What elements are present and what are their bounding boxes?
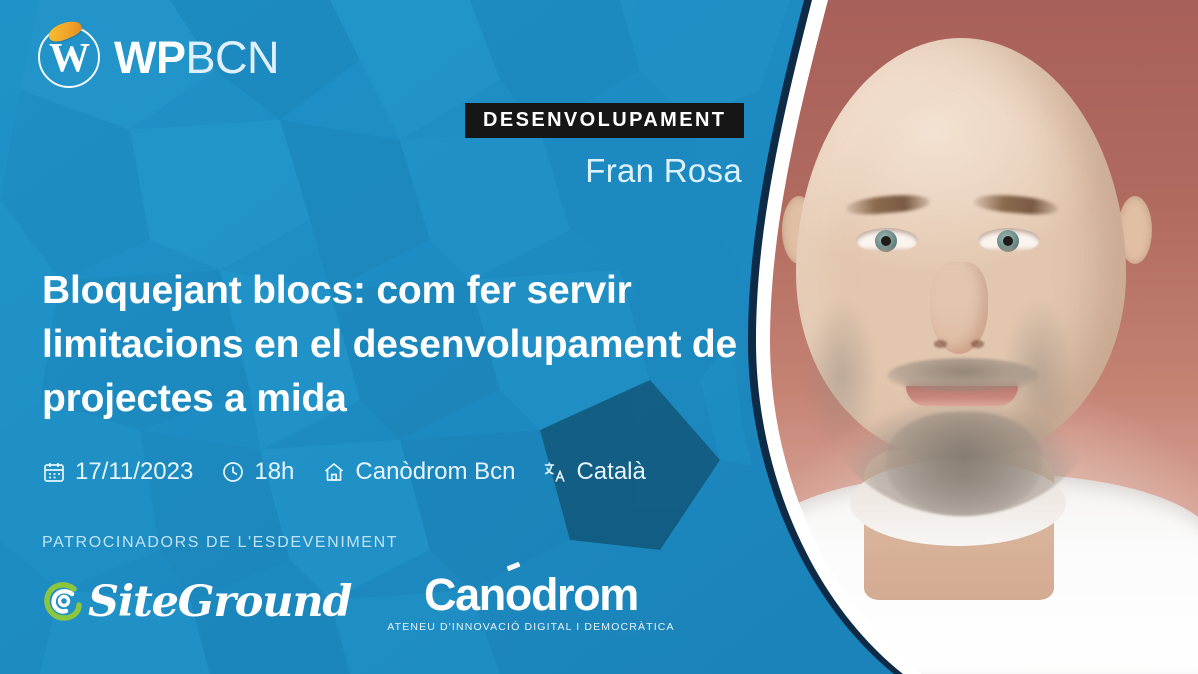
meta-venue: Canòdrom Bcn bbox=[322, 458, 515, 486]
canodrom-wordmark: Canodrom bbox=[424, 572, 638, 617]
meta-time: 18h bbox=[221, 458, 294, 486]
siteground-wordmark: SiteGround bbox=[88, 581, 351, 624]
meta-date-label: 17/11/2023 bbox=[75, 458, 193, 486]
meta-language: Català bbox=[543, 458, 645, 486]
wordpress-barretina-icon: W bbox=[38, 26, 100, 88]
translate-icon bbox=[543, 460, 567, 484]
track-badge-label: DESENVOLUPAMENT bbox=[483, 109, 726, 132]
meta-time-label: 18h bbox=[254, 458, 294, 486]
meta-language-label: Català bbox=[576, 458, 645, 486]
home-icon bbox=[322, 460, 346, 484]
wpbcn-wordmark: WPBCN bbox=[114, 35, 279, 80]
canodrom-o-accent: o bbox=[505, 572, 531, 617]
wpbcn-light: BCN bbox=[186, 32, 280, 83]
meta-date: 17/11/2023 bbox=[42, 458, 193, 486]
wpbcn-bold: WP bbox=[114, 32, 186, 83]
sponsor-canodrom: Canodrom ATENEU D'INNOVACIÓ DIGITAL I DE… bbox=[387, 572, 674, 633]
track-badge: DESENVOLUPAMENT bbox=[465, 103, 744, 138]
meta-venue-label: Canòdrom Bcn bbox=[355, 458, 515, 486]
slide-content: W WPBCN DESENVOLUPAMENT Fran Rosa Bloque… bbox=[0, 0, 1198, 674]
canodrom-tagline: ATENEU D'INNOVACIÓ DIGITAL I DEMOCRÀTICA bbox=[387, 622, 674, 633]
speaker-name: Fran Rosa bbox=[585, 152, 742, 190]
siteground-spiral bbox=[38, 576, 90, 628]
canodrom-part2: drom bbox=[531, 569, 638, 620]
session-meta-row: 17/11/2023 18h Canòdrom Bcn bbox=[42, 458, 646, 486]
canodrom-o: o bbox=[505, 569, 531, 620]
calendar-icon bbox=[42, 460, 66, 484]
clock-icon bbox=[221, 460, 245, 484]
sponsors-heading: PATROCINADORS DE L'ESDEVENIMENT bbox=[42, 534, 398, 552]
siteground-swirl-icon bbox=[38, 576, 90, 628]
event-slide: W WPBCN DESENVOLUPAMENT Fran Rosa Bloque… bbox=[0, 0, 1198, 674]
sponsor-siteground: SiteGround bbox=[38, 576, 351, 628]
sponsor-logos: SiteGround Canodrom ATENEU D'INNOVACIÓ D… bbox=[38, 572, 675, 633]
wpbcn-logo: W WPBCN bbox=[38, 26, 279, 88]
talk-title: Bloquejant blocs: com fer servir limitac… bbox=[42, 264, 812, 425]
canodrom-part1: Can bbox=[424, 569, 505, 620]
